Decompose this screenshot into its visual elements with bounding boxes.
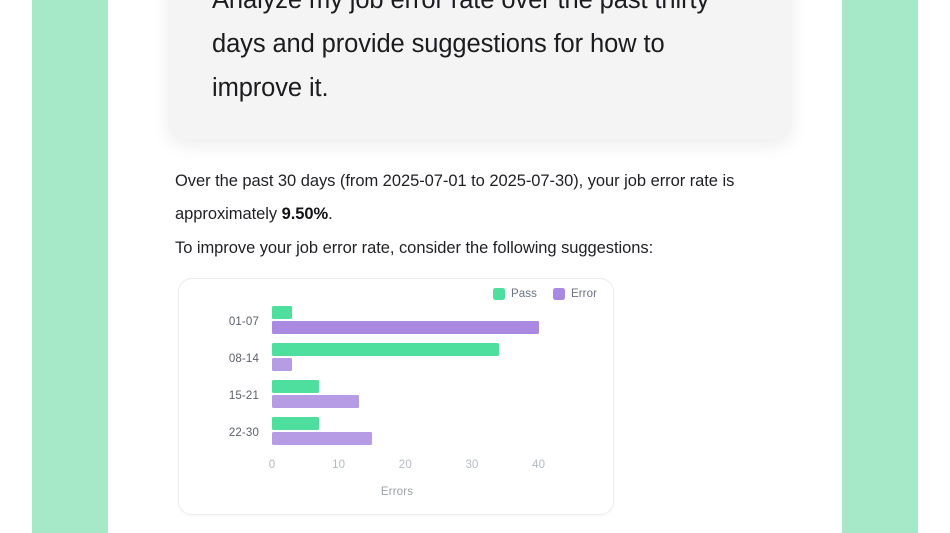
error-rate-value: 9.50% xyxy=(282,205,329,223)
chart-bar-error[interactable] xyxy=(272,321,539,334)
chart-bar-pass[interactable] xyxy=(272,380,319,393)
chart-x-tick-label: 30 xyxy=(465,459,478,471)
chart-group: 08-14 xyxy=(179,342,615,377)
chart-plot-area: 01-0708-1415-2122-30 xyxy=(179,305,615,470)
legend-label-pass: Pass xyxy=(511,288,537,300)
chart-legend: Pass Error xyxy=(493,288,597,300)
chart-x-tick-label: 20 xyxy=(399,459,412,471)
user-prompt-text: Analyze my job error rate over the past … xyxy=(212,0,758,110)
chart-category-label: 22-30 xyxy=(179,427,259,439)
chart-category-label: 15-21 xyxy=(179,390,259,402)
assistant-answer: Over the past 30 days (from 2025-07-01 t… xyxy=(175,165,775,265)
decorative-band-left xyxy=(32,0,108,533)
chart-bar-pass[interactable] xyxy=(272,343,499,356)
chart-x-tick-label: 0 xyxy=(269,459,276,471)
chart-x-tick-label: 10 xyxy=(332,459,345,471)
answer-paragraph-error-rate: Over the past 30 days (from 2025-07-01 t… xyxy=(175,165,775,231)
chart-group: 22-30 xyxy=(179,416,615,451)
chart-bar-group xyxy=(272,305,572,340)
chart-category-label: 08-14 xyxy=(179,353,259,365)
chart-group: 15-21 xyxy=(179,379,615,414)
legend-swatch-error xyxy=(553,288,565,300)
answer-paragraph-1-suffix: . xyxy=(328,205,333,223)
chart-x-axis-title: Errors xyxy=(179,486,615,498)
chart-bar-pass[interactable] xyxy=(272,417,319,430)
chart-group: 01-07 xyxy=(179,305,615,340)
answer-paragraph-1-prefix: Over the past 30 days (from 2025-07-01 t… xyxy=(175,172,734,223)
chart-bar-error[interactable] xyxy=(272,395,359,408)
answer-paragraph-suggestions-intro: To improve your job error rate, consider… xyxy=(175,232,775,265)
chart-bar-error[interactable] xyxy=(272,432,372,445)
legend-entry-pass[interactable]: Pass xyxy=(493,288,537,300)
legend-swatch-pass xyxy=(493,288,505,300)
chart-bar-group xyxy=(272,416,572,451)
content-column: Analyze my job error rate over the past … xyxy=(108,0,842,533)
legend-entry-error[interactable]: Error xyxy=(553,288,597,300)
chart-x-axis: 010203040 xyxy=(272,459,572,479)
chart-x-tick-label: 40 xyxy=(532,459,545,471)
user-prompt-bubble: Analyze my job error rate over the past … xyxy=(168,0,792,140)
chart-bar-group xyxy=(272,379,572,414)
chart-category-label: 01-07 xyxy=(179,316,259,328)
app-screen: Analyze my job error rate over the past … xyxy=(0,0,950,533)
chart-card: Pass Error 01-0708-1415-2122-30 01020304… xyxy=(178,278,614,515)
chart-bar-error[interactable] xyxy=(272,358,292,371)
chart-bar-group xyxy=(272,342,572,377)
chart-bar-pass[interactable] xyxy=(272,306,292,319)
decorative-band-right xyxy=(842,0,918,533)
legend-label-error: Error xyxy=(571,288,597,300)
